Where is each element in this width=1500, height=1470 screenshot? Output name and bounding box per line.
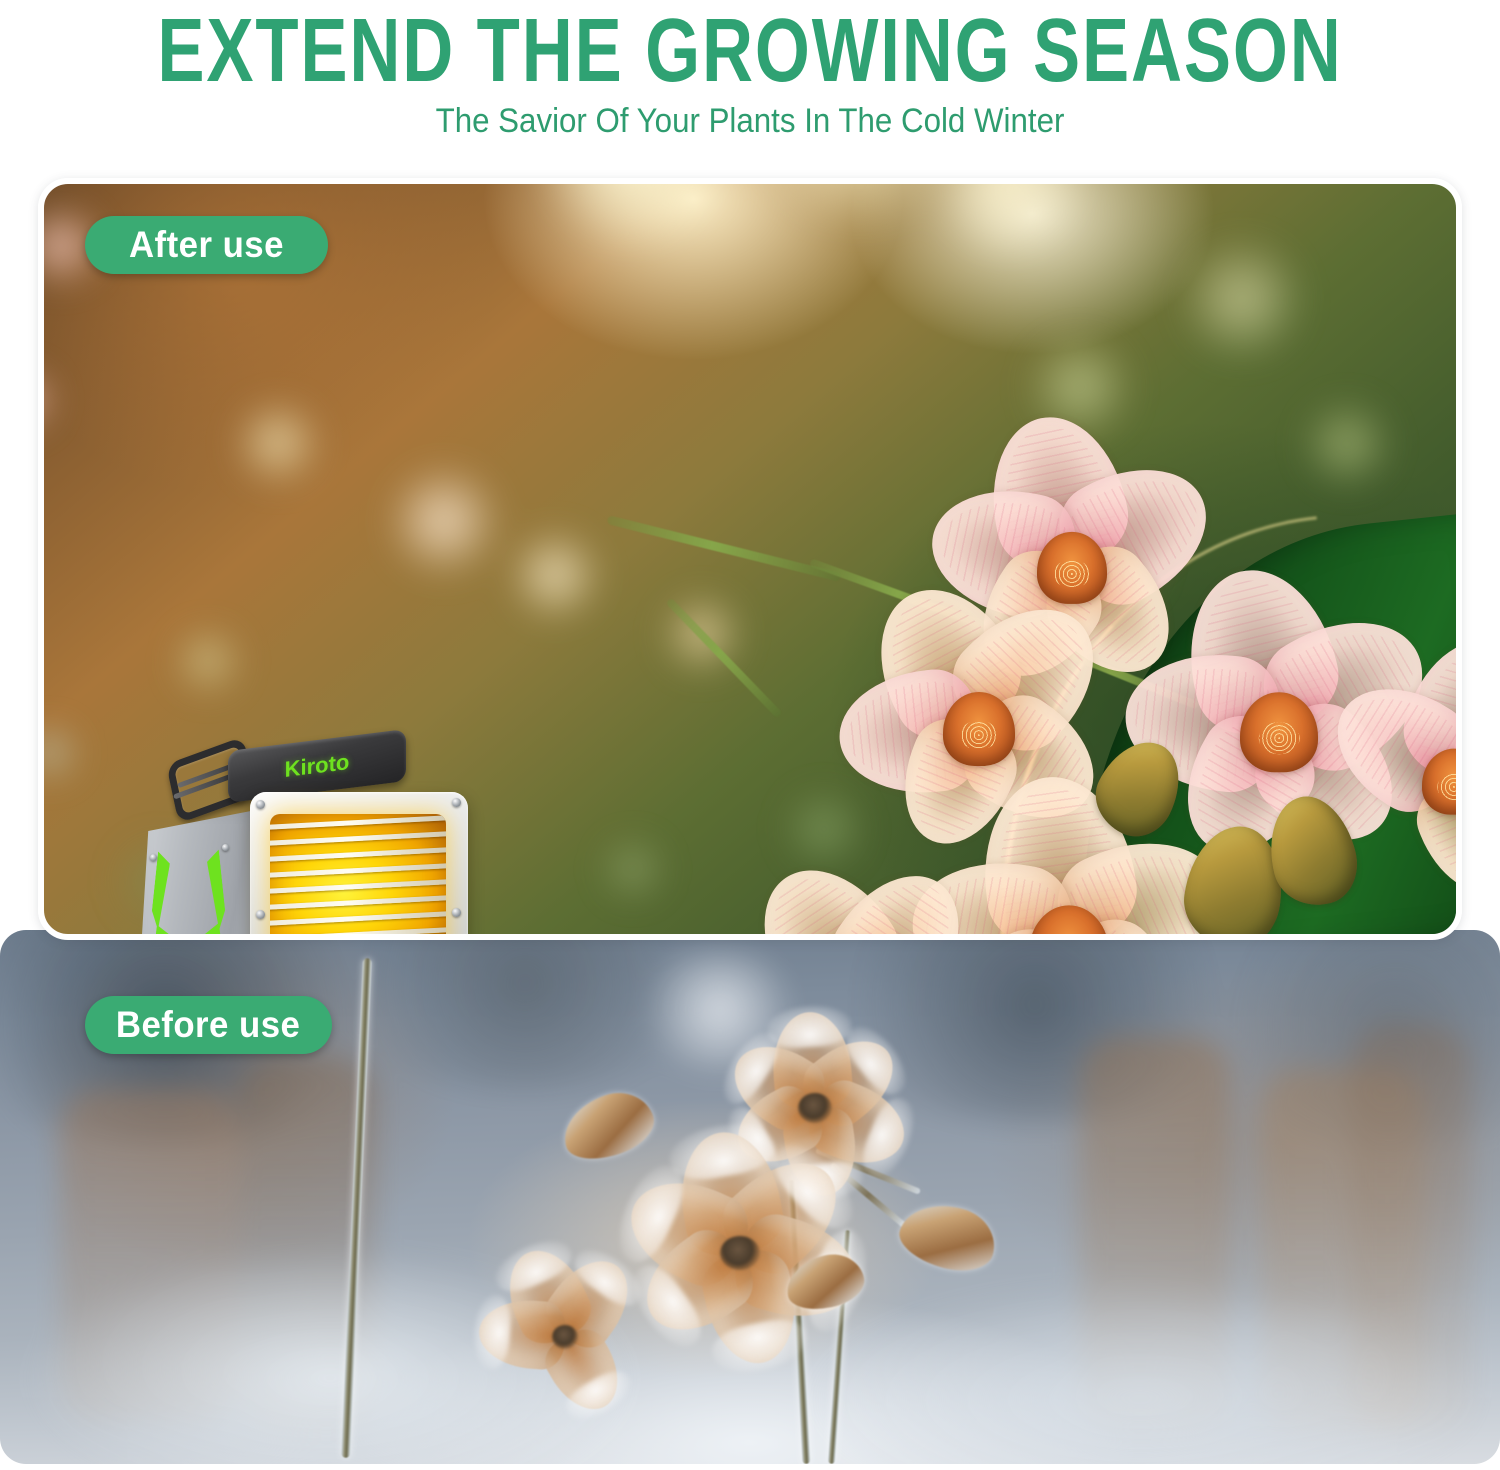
screw — [452, 798, 461, 807]
screw — [452, 908, 461, 917]
badge-before-use-label: Before use — [116, 1004, 300, 1046]
badge-after-use-label: After use — [129, 224, 284, 266]
green-decal — [147, 925, 176, 940]
heater-front-face — [250, 792, 468, 940]
heater-product: Kiroto — [132, 736, 482, 940]
green-decal — [199, 923, 229, 940]
screw — [222, 844, 229, 851]
header: EXTEND THE GROWING SEASON The Savior Of … — [0, 0, 1500, 142]
page-subtitle: The Savior Of Your Plants In The Cold Wi… — [60, 100, 1440, 142]
screw — [256, 800, 265, 809]
screw — [256, 910, 265, 919]
badge-after-use[interactable]: After use — [85, 216, 328, 274]
frosted-flower — [470, 1252, 660, 1422]
green-decal — [150, 852, 171, 931]
badge-before-use[interactable]: Before use — [85, 996, 332, 1054]
page-title: EXTEND THE GROWING SEASON — [53, 2, 1448, 101]
screw — [150, 854, 157, 861]
orchid-lip — [943, 692, 1015, 766]
heating-element-grille — [270, 814, 446, 940]
orchid-lip — [1240, 692, 1318, 772]
heater-side-panel — [138, 808, 266, 940]
after-use-panel: Kiroto — [38, 178, 1462, 940]
orchid-bloom — [744, 874, 984, 940]
green-decal — [206, 850, 227, 931]
comparison-stage: Kiroto — [0, 0, 1500, 1470]
